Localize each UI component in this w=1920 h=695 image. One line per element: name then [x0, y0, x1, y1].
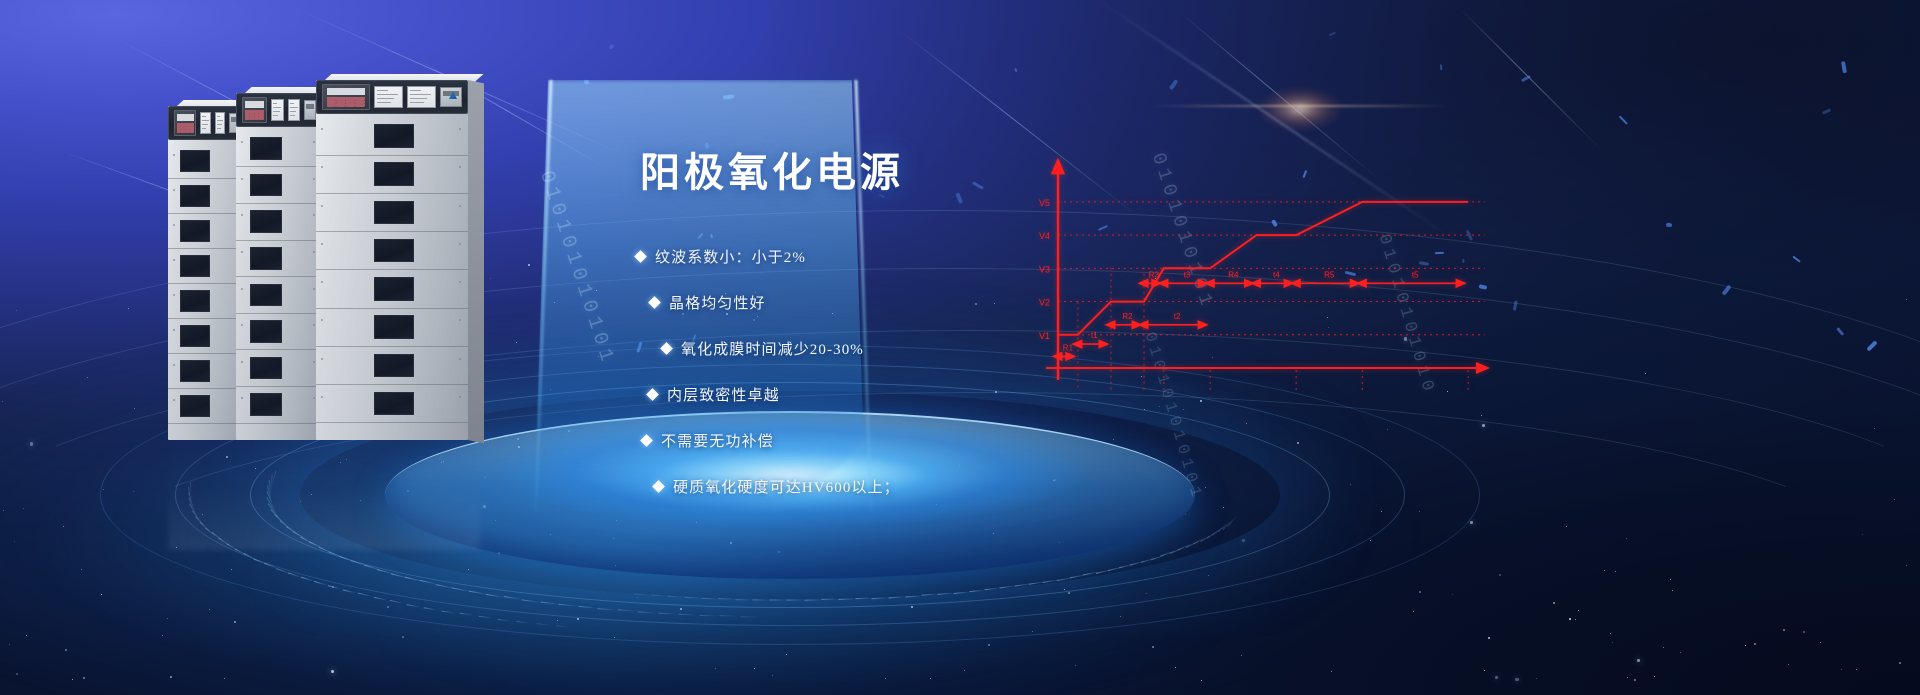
particle	[1894, 499, 1895, 500]
cabinet-vent-panel	[374, 239, 414, 263]
cabinet-screw	[241, 397, 243, 399]
chart-y-tick-label[interactable]: V4	[1039, 231, 1050, 241]
cabinet-screw	[173, 364, 175, 366]
banner-stage: 0101010101010101010101010101010100101010…	[0, 0, 1920, 695]
cabinet-seam	[316, 346, 468, 347]
cabinet-side-panel	[468, 80, 484, 443]
cabinet-screw	[459, 128, 461, 130]
cabinet-vent-panel	[180, 150, 210, 172]
plate-text-line	[217, 124, 222, 125]
cabinet-control-panel[interactable]	[168, 106, 246, 140]
feature-bullet-text: 晶格均匀性好	[669, 292, 766, 313]
cabinet-vent-panel	[250, 137, 282, 160]
chart-svg: V1V2V3V4V5R1t1R2t2R3t3R4t4R5t5	[1020, 150, 1500, 400]
cabinet-screw	[321, 319, 323, 321]
cabinet-seam	[168, 178, 246, 179]
plate-text-line	[290, 115, 295, 116]
shard-particle	[1666, 222, 1672, 227]
particle	[1627, 677, 1628, 678]
feature-bullet-item: 硬质氧化硬度可达HV600以上；	[654, 463, 1156, 509]
feature-bullet-text: 硬质氧化硬度可达HV600以上；	[673, 476, 900, 497]
cabinet-seam	[236, 313, 322, 314]
cabinet-screw	[313, 324, 315, 326]
diamond-bullet-icon	[634, 250, 647, 263]
hmi-keypad-display[interactable]	[174, 110, 196, 136]
power-cabinet	[316, 80, 468, 440]
cabinet-screw	[313, 178, 315, 180]
cabinet-screw	[173, 154, 175, 156]
keypad[interactable]	[177, 123, 194, 133]
diamond-bullet-icon	[648, 296, 661, 309]
particle	[1610, 633, 1611, 634]
plate-text-line	[290, 111, 297, 112]
cabinet-vent-panel	[374, 201, 414, 225]
particle	[1495, 676, 1498, 679]
cabinet-vent-panel	[250, 357, 282, 380]
cabinet-screw	[313, 214, 315, 216]
diamond-bullet-icon	[660, 342, 673, 355]
cabinet-screw	[459, 166, 461, 168]
plate-text-line	[202, 120, 209, 121]
particle	[885, 678, 886, 679]
chart-y-tick-label[interactable]: V2	[1039, 298, 1050, 308]
feature-bullet-item: 不需要无功补偿	[642, 417, 1156, 463]
cabinet-vent-panel	[374, 277, 414, 301]
cabinet-screw	[321, 166, 323, 168]
chart-segment-label-R5[interactable]: R5	[1324, 270, 1335, 279]
shard-particle	[1014, 67, 1017, 71]
cabinet-seam	[236, 166, 322, 167]
label-plate	[271, 99, 284, 121]
lcd-screen	[177, 114, 194, 121]
plate-text-line	[202, 128, 206, 129]
plate-text-line	[410, 90, 421, 91]
breaker-switch[interactable]	[304, 100, 316, 121]
plate-text-line	[410, 94, 431, 95]
particle	[1680, 652, 1681, 653]
lens-flare-icon	[1240, 78, 1360, 140]
cabinet-seam	[168, 248, 246, 249]
particle	[65, 649, 67, 651]
cabinet-seam	[168, 388, 246, 389]
cabinet-vent-panel	[180, 325, 210, 347]
machine-reflection	[168, 430, 480, 550]
hmi-keypad-display[interactable]	[322, 84, 370, 110]
plate-text-line	[377, 90, 388, 91]
cabinet-seam	[316, 231, 468, 232]
cabinet-seam	[316, 193, 468, 194]
cabinet-vent-panel	[250, 320, 282, 343]
cabinet-control-panel[interactable]	[316, 80, 468, 114]
particle	[1201, 680, 1202, 681]
cabinet-screw	[173, 399, 175, 401]
chart-segment-label-R2[interactable]: R2	[1122, 312, 1133, 321]
cabinet-screw	[241, 251, 243, 253]
feature-bullet-text: 纹波系数小：小于2%	[655, 246, 806, 267]
page-title: 阳极氧化电源	[640, 140, 904, 198]
cabinet-screw	[241, 178, 243, 180]
plate-text-line	[377, 98, 394, 99]
cabinet-seam	[168, 283, 246, 284]
plate-text-line	[273, 103, 277, 104]
diamond-bullet-icon	[640, 434, 653, 447]
cabinet-screw	[321, 128, 323, 130]
cabinet-seam	[168, 353, 246, 354]
particle	[1654, 676, 1655, 677]
plate-text-line	[290, 107, 298, 108]
cabinet-seam	[236, 240, 322, 241]
chart-segment-label-t3[interactable]: t3	[1184, 270, 1191, 279]
cabinet-vent-panel	[180, 255, 210, 277]
particle	[1604, 570, 1605, 571]
cabinet-screw	[173, 189, 175, 191]
label-plate	[200, 112, 211, 134]
brand-logo	[449, 91, 460, 99]
cabinet-vent-panel	[250, 393, 282, 416]
cabinet-screw	[313, 397, 315, 399]
diamond-bullet-icon	[646, 388, 659, 401]
label-plate	[215, 112, 226, 134]
plate-text-line	[377, 94, 398, 95]
particle	[1841, 669, 1842, 670]
cabinet-vent-panel	[374, 124, 414, 148]
cabinet-vent-panel	[250, 247, 282, 270]
cabinet-control-panel[interactable]	[236, 93, 322, 127]
label-plate	[288, 99, 301, 121]
keypad[interactable]	[327, 97, 365, 107]
chart-segment-label-t1[interactable]: t1	[1091, 331, 1098, 340]
plate-text-line	[273, 107, 281, 108]
cabinet-screw	[321, 358, 323, 360]
cabinet-seam	[236, 386, 322, 387]
particle	[754, 668, 755, 669]
cabinet-screw	[173, 329, 175, 331]
chart-segment-label-R3[interactable]: R3	[1149, 270, 1160, 279]
cabinet-screw	[459, 205, 461, 207]
cabinet-seam	[168, 213, 246, 214]
feature-bullet-text: 内层致密性卓越	[667, 384, 780, 405]
cabinet-vent-panel	[250, 284, 282, 307]
cabinet-seam	[236, 423, 322, 424]
cabinet-screw	[173, 294, 175, 296]
hmi-keypad-display[interactable]	[242, 97, 267, 123]
lcd-screen	[245, 101, 264, 108]
label-plate	[407, 86, 436, 108]
chart-y-tick-label[interactable]: V5	[1039, 198, 1050, 208]
particle	[772, 675, 773, 676]
cabinet-screw	[321, 396, 323, 398]
lcd-screen	[327, 88, 365, 95]
cabinet-seam	[316, 269, 468, 270]
particle	[3, 510, 4, 511]
cabinet-screw	[459, 319, 461, 321]
particle	[1331, 671, 1332, 672]
plate-text-line	[202, 124, 207, 125]
particle	[1612, 642, 1613, 643]
cabinet-seam	[316, 384, 468, 385]
cabinet-vent-panel	[374, 162, 414, 186]
cabinet-seam	[168, 318, 246, 319]
cabinet-screw	[321, 243, 323, 245]
cabinet-screw	[173, 259, 175, 261]
cabinet-screw	[321, 281, 323, 283]
chart-segment-label-R1[interactable]: R1	[1063, 343, 1074, 352]
cabinet-seam	[168, 423, 246, 424]
cabinet-seam	[316, 308, 468, 309]
cabinet-screw	[459, 358, 461, 360]
voltage-profile-chart: V1V2V3V4V5R1t1R2t2R3t3R4t4R5t5	[1020, 150, 1500, 400]
cabinet-screw	[241, 324, 243, 326]
particle	[1803, 631, 1805, 633]
cabinet-screw	[313, 361, 315, 363]
cabinet-seam	[236, 349, 322, 350]
triangle-logo-icon	[449, 91, 457, 99]
chart-y-tick-label[interactable]: V1	[1039, 331, 1050, 341]
diamond-bullet-icon	[652, 480, 665, 493]
cabinet-screw	[241, 288, 243, 290]
particle	[2, 401, 3, 402]
plate-text-line	[410, 98, 427, 99]
particle	[1862, 534, 1863, 535]
cabinet-screw	[241, 361, 243, 363]
cabinet-seam	[236, 203, 322, 204]
cabinet-screw	[313, 141, 315, 143]
particle	[1820, 642, 1821, 643]
chart-y-tick-label[interactable]: V3	[1039, 264, 1050, 274]
equipment-cabinets	[168, 80, 478, 440]
particle	[72, 679, 73, 680]
label-plate	[374, 86, 403, 108]
chart-segment-label-R4[interactable]: R4	[1228, 270, 1239, 279]
chart-segment-label-t2[interactable]: t2	[1174, 312, 1181, 321]
plate-text-line	[290, 103, 294, 104]
chart-segment-label-t4[interactable]: t4	[1273, 270, 1280, 279]
power-cabinet	[168, 106, 246, 440]
cabinet-screw	[241, 214, 243, 216]
plate-text-line	[202, 116, 205, 117]
feature-bullet-text: 氧化成膜时间减少20-30%	[681, 338, 864, 359]
cabinet-vent-panel	[374, 392, 414, 416]
particle	[1672, 590, 1673, 591]
cabinet-screw	[313, 288, 315, 290]
plate-text-line	[410, 102, 424, 103]
feature-bullet-text: 不需要无功补偿	[661, 430, 774, 451]
cabinet-screw	[459, 396, 461, 398]
plate-text-line	[217, 120, 224, 121]
plate-text-line	[217, 128, 221, 129]
keypad[interactable]	[245, 110, 264, 120]
cabinet-vent-panel	[250, 174, 282, 197]
power-cabinet	[236, 93, 322, 440]
plate-text-line	[217, 116, 220, 117]
particle	[1175, 667, 1176, 668]
cabinet-screw	[241, 141, 243, 143]
cabinet-screw	[459, 243, 461, 245]
chart-segment-label-t5[interactable]: t5	[1412, 270, 1419, 279]
particle	[964, 670, 965, 671]
cabinet-vent-panel	[180, 220, 210, 242]
cabinet-vent-panel	[180, 360, 210, 382]
cabinet-vent-panel	[250, 210, 282, 233]
cabinet-vent-panel	[374, 354, 414, 378]
lens-flare-streak	[1150, 105, 1450, 107]
cabinet-vent-panel	[180, 395, 210, 417]
cabinet-seam	[236, 276, 322, 277]
cabinet-seam	[316, 422, 468, 423]
cabinet-vent-panel	[180, 290, 210, 312]
cabinet-screw	[321, 205, 323, 207]
cabinet-vent-panel	[374, 315, 414, 339]
plate-text-line	[377, 102, 391, 103]
cabinet-screw	[459, 281, 461, 283]
cabinet-vent-panel	[180, 185, 210, 207]
plate-text-line	[273, 111, 280, 112]
cabinet-screw	[313, 251, 315, 253]
particle	[30, 442, 33, 445]
plate-text-line	[273, 115, 278, 116]
cabinet-seam	[316, 155, 468, 156]
cabinet-screw	[173, 224, 175, 226]
